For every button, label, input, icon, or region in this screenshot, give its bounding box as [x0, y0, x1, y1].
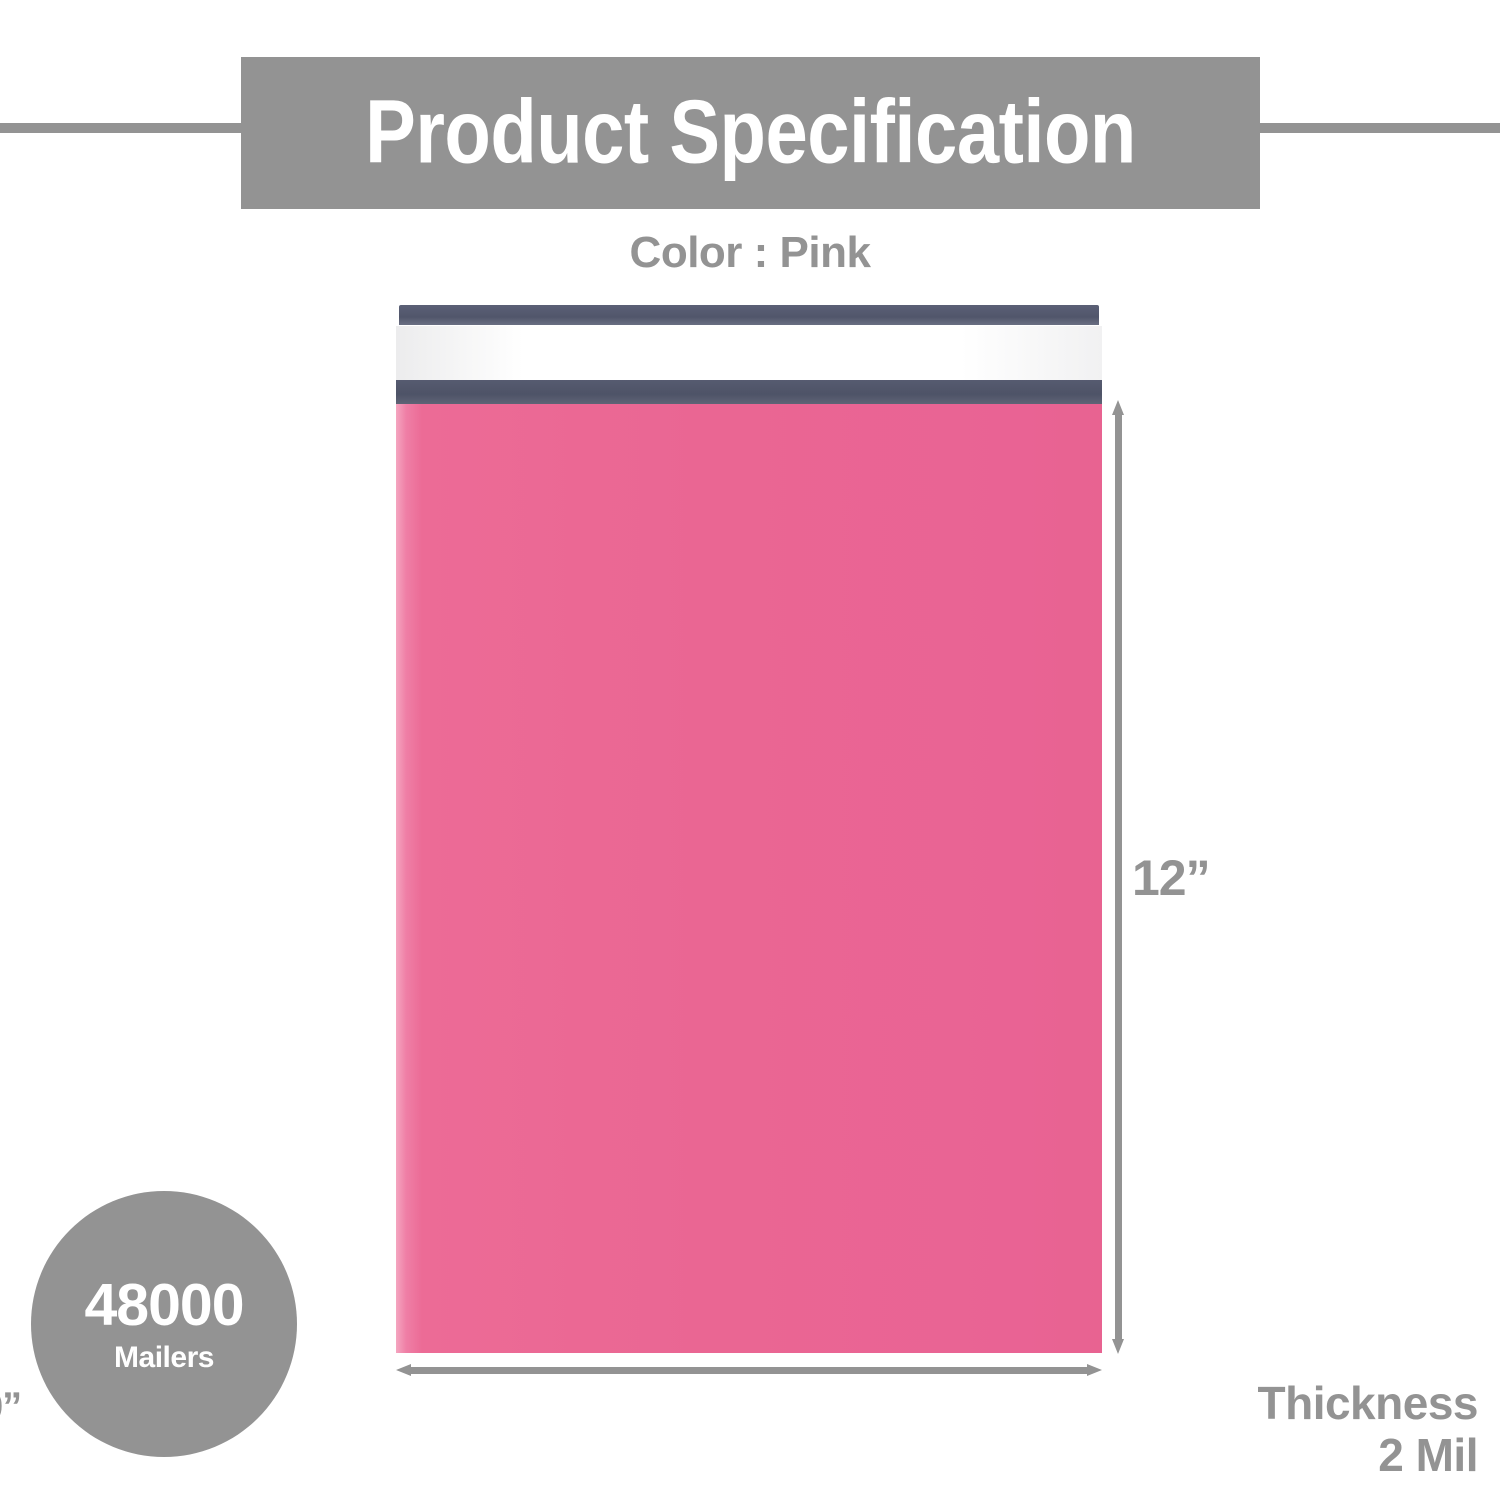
page-title: Product Specification [365, 88, 1136, 178]
color-label: Color : Pink [0, 228, 1500, 278]
header-rule-left [0, 123, 243, 133]
quantity-count: 48000 [84, 1276, 243, 1335]
arrow-shaft-horizontal [408, 1367, 1090, 1374]
quantity-unit: Mailers [114, 1343, 214, 1373]
arrow-shaft-vertical [1115, 411, 1122, 1343]
bag-flap-bottom-edge [396, 380, 1102, 406]
bag-body-pink [396, 404, 1102, 1353]
height-dimension-arrow [1112, 400, 1124, 1354]
title-banner: Product Specification [241, 57, 1260, 209]
quantity-badge: 48000 Mailers [31, 1191, 297, 1457]
bag-adhesive-strip [396, 326, 1102, 382]
width-dimension-arrow [396, 1364, 1102, 1377]
thickness-block: Thickness 2 Mil [1258, 1378, 1479, 1481]
header-rule-right [1257, 123, 1500, 133]
arrow-head-down-icon [1112, 1339, 1124, 1354]
height-label: 12” [1132, 849, 1210, 907]
thickness-value: 2 Mil [1258, 1430, 1479, 1482]
arrow-head-right-icon [1087, 1364, 1102, 1376]
thickness-title: Thickness [1258, 1378, 1479, 1430]
product-specification-graphic: Product Specification Color : Pink 12” 9… [0, 0, 1500, 1500]
bag-flap-top-edge [399, 305, 1099, 325]
poly-mailer-bag [396, 305, 1102, 1353]
width-label: 9” [0, 1385, 21, 1429]
